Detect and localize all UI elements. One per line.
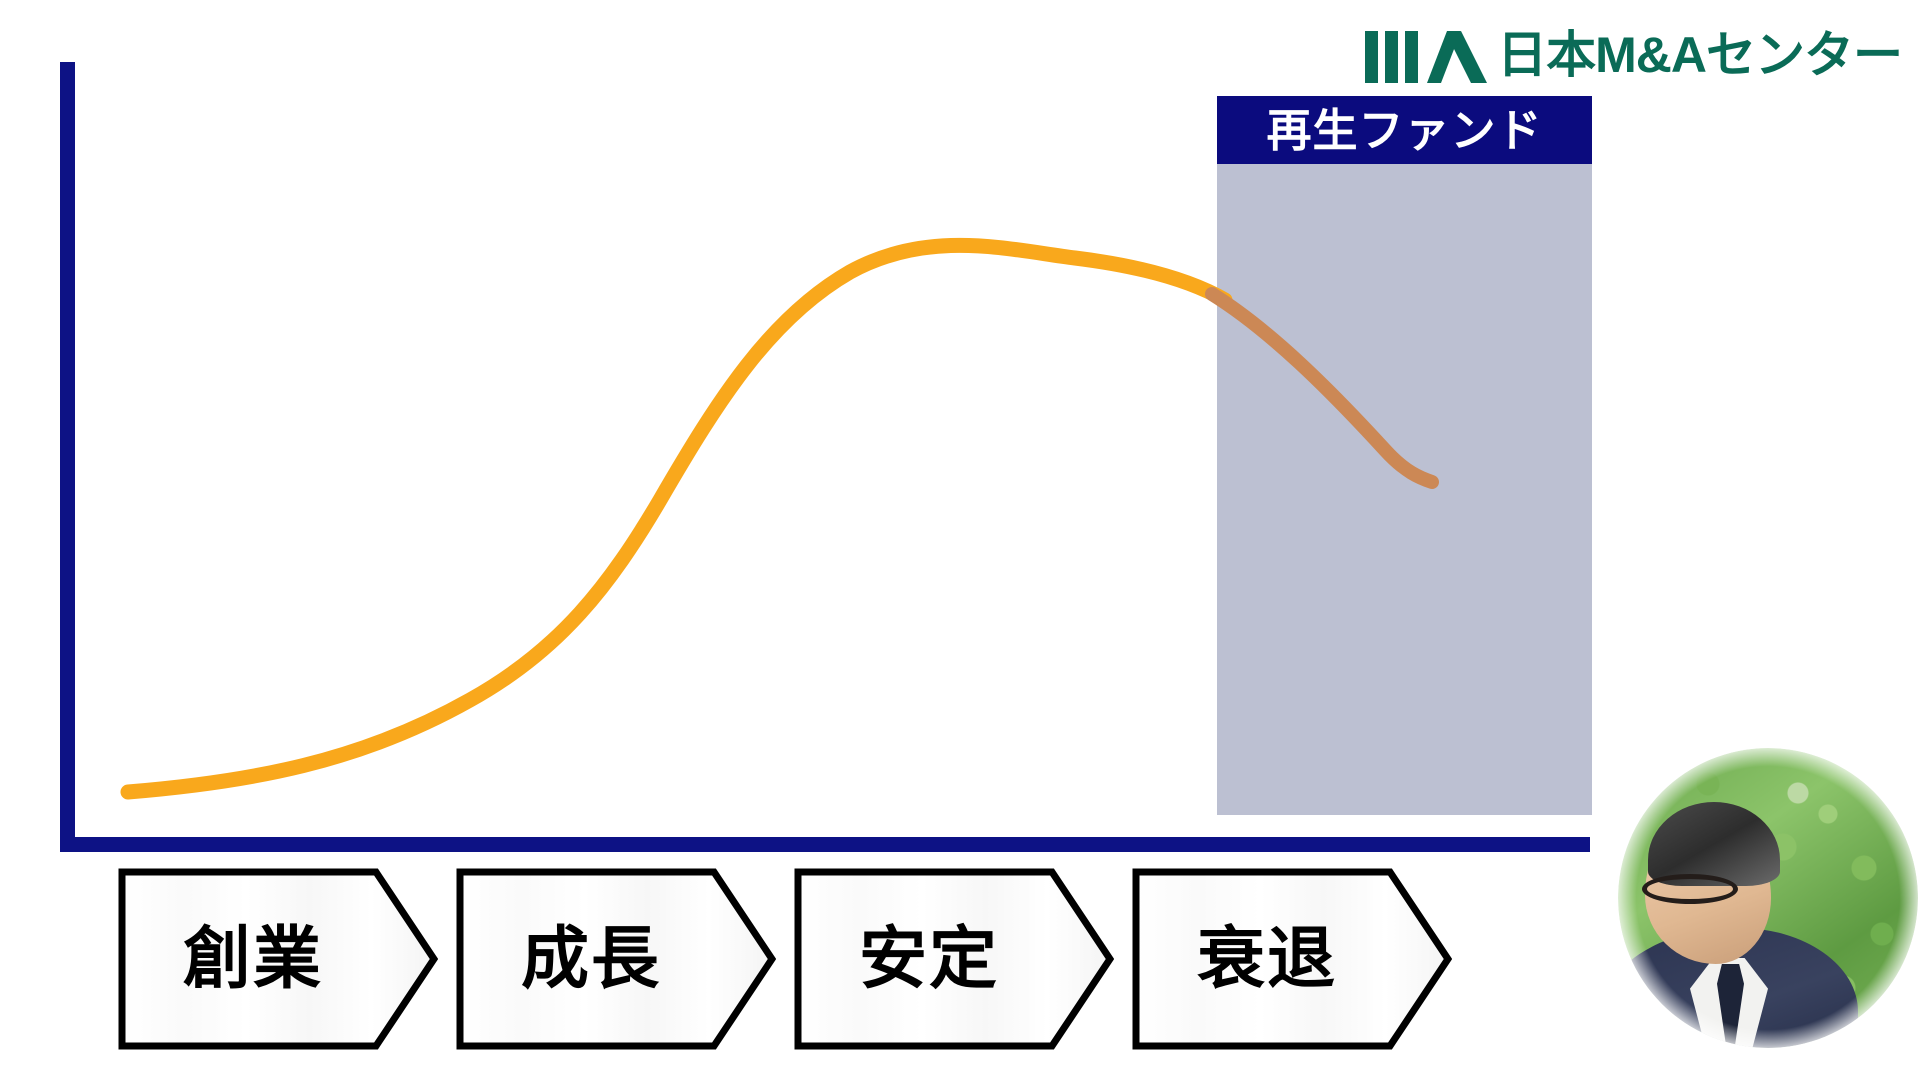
stage-chevron-stability[interactable]: 安定 <box>794 868 1114 1050</box>
brand-logo: 日本M&Aセンター <box>1365 24 1902 86</box>
stage-chevron-decline[interactable]: 衰退 <box>1132 868 1452 1050</box>
stage-label-stability: 安定 <box>794 868 1064 1050</box>
stage-chevron-founding[interactable]: 創業 <box>118 868 438 1050</box>
stage-label-founding: 創業 <box>118 868 388 1050</box>
presenter-video-circle <box>1618 748 1918 1048</box>
nihon-ma-center-logo-mark-icon <box>1365 27 1487 83</box>
revitalization-fund-label-text: 再生ファンド <box>1266 108 1542 153</box>
presenter-glasses-icon <box>1642 874 1738 904</box>
curve-growth-segment <box>128 245 1225 792</box>
slide-canvas: 日本M&Aセンター 再生ファンド <box>0 0 1920 1080</box>
revitalization-fund-label: 再生ファンド <box>1217 96 1592 164</box>
stage-chevron-growth[interactable]: 成長 <box>456 868 776 1050</box>
y-axis <box>60 62 75 852</box>
stage-label-decline: 衰退 <box>1132 868 1402 1050</box>
x-axis <box>60 837 1590 852</box>
lifecycle-stage-row: 創業 成長 安定 衰退 <box>118 868 1452 1050</box>
brand-wordmark: 日本M&Aセンター <box>1497 30 1902 80</box>
stage-label-growth: 成長 <box>456 868 726 1050</box>
revitalization-fund-band <box>1217 160 1592 815</box>
